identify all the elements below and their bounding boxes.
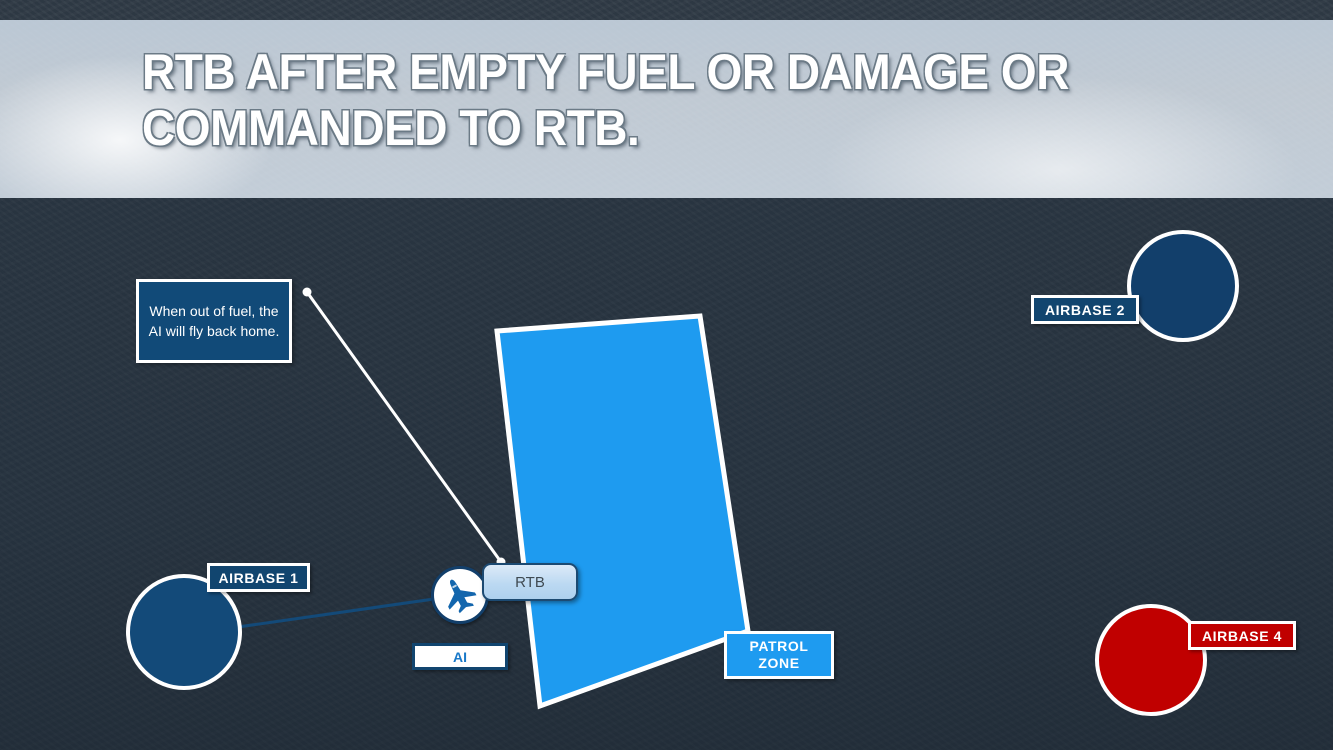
aircraft-marker[interactable] bbox=[431, 566, 489, 624]
patrol-zone-label-line1: PATROL bbox=[749, 638, 808, 655]
fuel-callout-box: When out of fuel, the AI will fly back h… bbox=[136, 279, 292, 363]
page-title: RTB AFTER EMPTY FUEL OR DAMAGE OR COMMAN… bbox=[142, 44, 1154, 156]
patrol-zone-label[interactable]: PATROL ZONE bbox=[724, 631, 834, 679]
slide-canvas: RTB AFTER EMPTY FUEL OR DAMAGE OR COMMAN… bbox=[0, 0, 1333, 750]
rtb-state-box[interactable]: RTB bbox=[482, 563, 578, 601]
fighter-jet-icon bbox=[440, 575, 480, 615]
airbase-2-label[interactable]: AIRBASE 2 bbox=[1031, 295, 1139, 324]
airbase-4-label[interactable]: AIRBASE 4 bbox=[1188, 621, 1296, 650]
airbase-2-marker[interactable] bbox=[1127, 230, 1239, 342]
patrol-zone-label-line2: ZONE bbox=[758, 655, 799, 672]
airbase-1-label[interactable]: AIRBASE 1 bbox=[207, 563, 310, 592]
ai-label[interactable]: AI bbox=[412, 643, 508, 670]
